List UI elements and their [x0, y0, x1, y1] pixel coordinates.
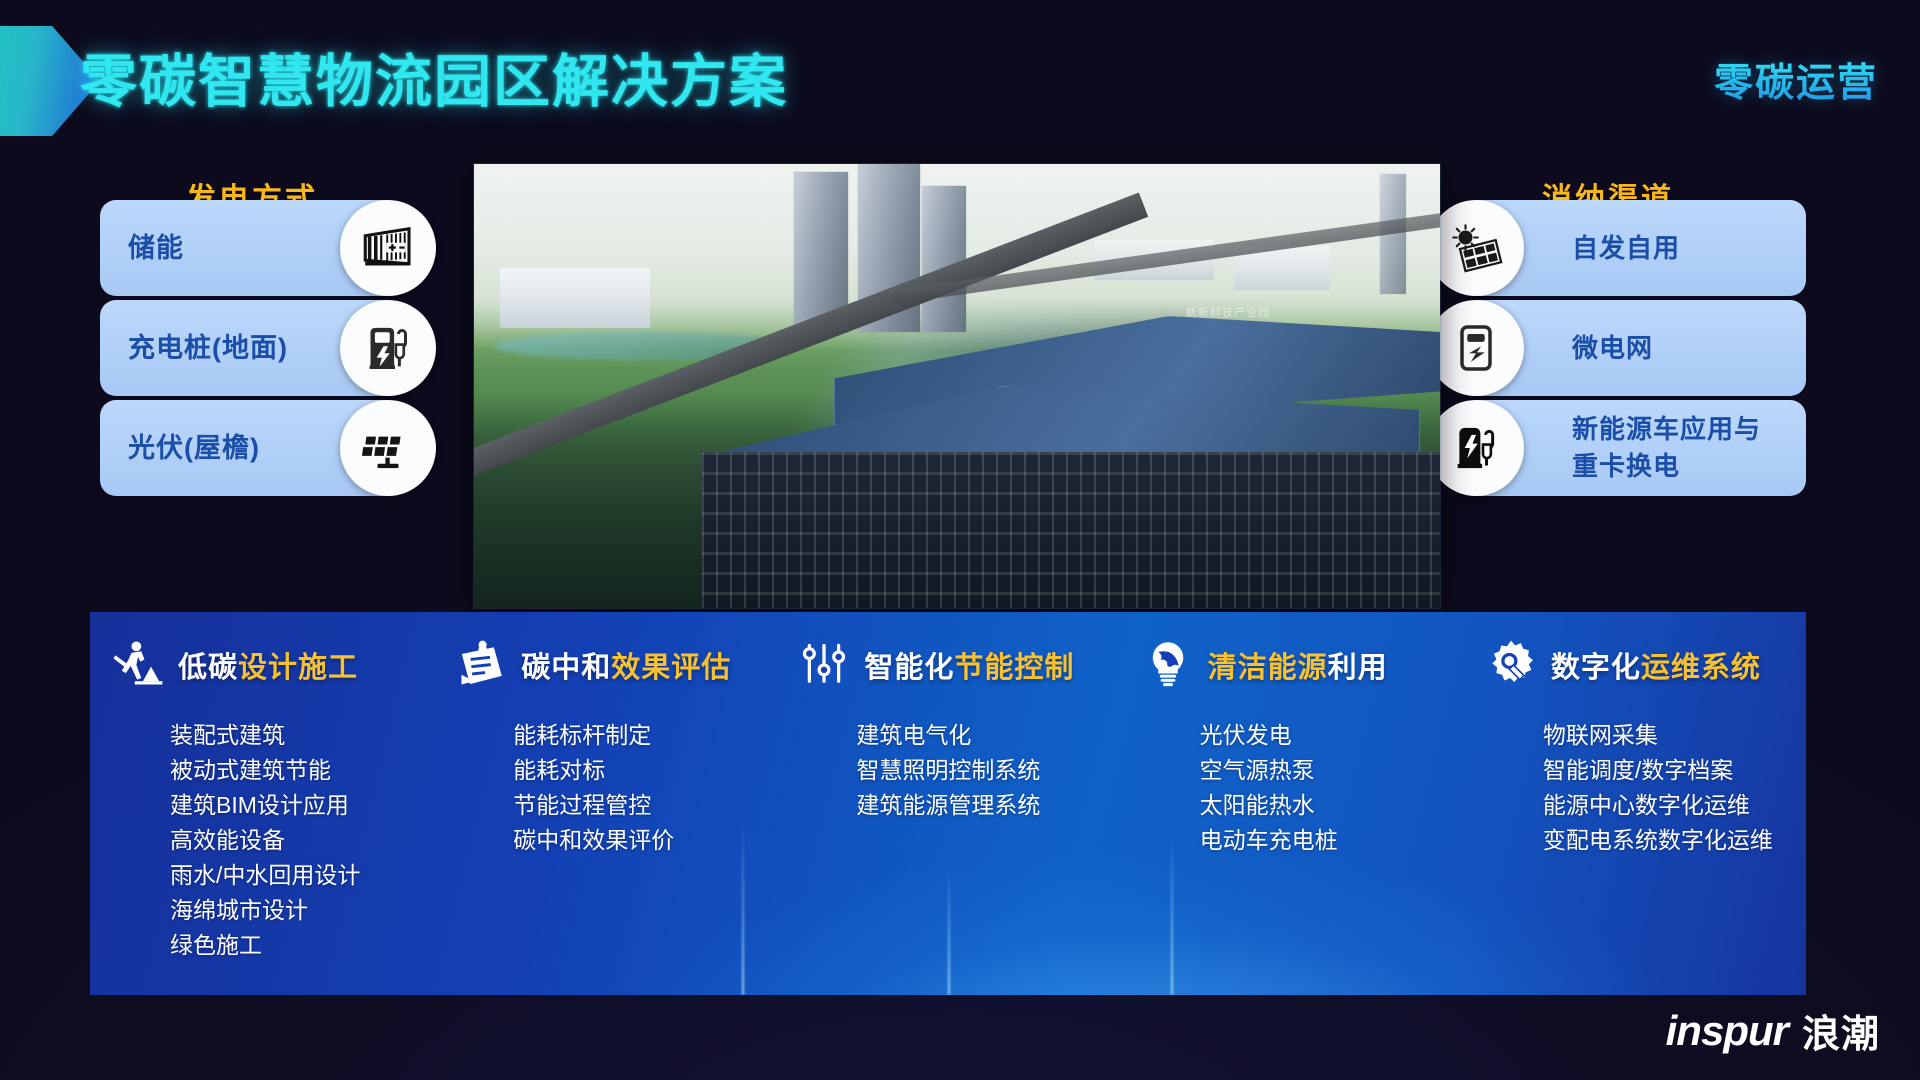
list-item: 雨水/中水回用设计 — [170, 858, 427, 893]
card-microgrid[interactable]: 微电网 — [1464, 300, 1806, 396]
list-item: 变配电系统数字化运维 — [1543, 823, 1800, 858]
gear-wrench-icon — [1485, 639, 1537, 691]
page-title: 零碳智慧物流园区解决方案 — [80, 36, 788, 118]
ev-charging-pile-icon — [1428, 400, 1524, 496]
image-building-block — [500, 268, 650, 328]
panel-column-digital-operations: 数字化运维系统 物联网采集 智能调度/数字档案 能源中心数字化运维 变配电系统数… — [1463, 634, 1806, 995]
header-right-label: 零碳运营 — [1714, 52, 1878, 108]
image-building-facade — [702, 452, 1440, 608]
list-item: 被动式建筑节能 — [170, 753, 427, 788]
charging-station-icon — [340, 300, 436, 396]
card-charging-pile-ground[interactable]: 充电桩(地面) — [100, 300, 400, 396]
panel-column-carbon-neutral-assessment: 碳中和效果评估 能耗标杆制定 能耗对标 节能过程管控 碳中和效果评价 — [433, 634, 776, 995]
list-item: 能耗对标 — [513, 753, 770, 788]
solar-panel-icon — [340, 400, 436, 496]
slide-root: 零碳智慧物流园区解决方案 零碳运营 发电方式 储能 — [0, 0, 1920, 1080]
list-item: 物联网采集 — [1543, 718, 1800, 753]
construction-worker-icon — [112, 639, 164, 691]
list-item: 智慧照明控制系统 — [856, 753, 1113, 788]
card-photovoltaic-eave[interactable]: 光伏(屋檐) — [100, 400, 400, 496]
list-item: 光伏发电 — [1200, 718, 1457, 753]
card-label: 自发自用 — [1572, 230, 1680, 267]
panel-column-intelligent-energy-control: 智能化节能控制 建筑电气化 智慧照明控制系统 建筑能源管理系统 — [776, 634, 1119, 995]
logo-chinese-name: 浪潮 — [1802, 1003, 1880, 1058]
clipboard-report-icon — [455, 639, 507, 691]
panel-item-list: 光伏发电 空气源热泵 太阳能热水 电动车充电桩 — [1134, 718, 1457, 858]
microgrid-battery-icon — [1428, 300, 1524, 396]
slider-control-icon — [798, 639, 850, 691]
logo-wordmark: inspur — [1666, 1007, 1788, 1055]
panel-item-list: 装配式建筑 被动式建筑节能 建筑BIM设计应用 高效能设备 雨水/中水回用设计 … — [104, 718, 427, 963]
panel-item-list: 建筑电气化 智慧照明控制系统 建筑能源管理系统 — [790, 718, 1113, 823]
sun-solar-panel-icon — [1428, 200, 1524, 296]
list-item: 空气源热泵 — [1200, 753, 1457, 788]
card-label: 光伏(屋檐) — [128, 429, 260, 467]
image-tower — [922, 186, 966, 332]
panel-column-low-carbon-design: 低碳设计施工 装配式建筑 被动式建筑节能 建筑BIM设计应用 高效能设备 雨水/… — [90, 634, 433, 995]
card-label: 充电桩(地面) — [128, 329, 288, 367]
list-item: 建筑电气化 — [856, 718, 1113, 753]
panel-column-title: 数字化运维系统 — [1551, 644, 1761, 686]
list-item: 建筑能源管理系统 — [856, 788, 1113, 823]
panel-item-list: 能耗标杆制定 能耗对标 节能过程管控 碳中和效果评价 — [447, 718, 770, 858]
card-label: 新能源车应用与重卡换电 — [1572, 411, 1782, 485]
logistics-park-rendering-image: 新新科技产业园 — [474, 164, 1440, 608]
list-item: 能源中心数字化运维 — [1543, 788, 1800, 823]
panel-column-title: 智能化节能控制 — [864, 644, 1074, 686]
lightbulb-globe-icon — [1142, 639, 1194, 691]
list-item: 节能过程管控 — [513, 788, 770, 823]
panel-item-list: 物联网采集 智能调度/数字档案 能源中心数字化运维 变配电系统数字化运维 — [1477, 718, 1800, 858]
battery-storage-container-icon — [340, 200, 436, 296]
list-item: 电动车充电桩 — [1200, 823, 1457, 858]
list-item: 太阳能热水 — [1200, 788, 1457, 823]
card-label: 微电网 — [1572, 330, 1653, 367]
panel-column-title: 碳中和效果评估 — [521, 644, 731, 686]
inspur-logo: inspur 浪潮 — [1666, 1003, 1880, 1058]
card-new-energy-vehicle[interactable]: 新能源车应用与重卡换电 — [1464, 400, 1806, 496]
panel-column-title: 低碳设计施工 — [178, 644, 358, 686]
list-item: 高效能设备 — [170, 823, 427, 858]
panel-column-clean-energy-use: 清洁能源利用 光伏发电 空气源热泵 太阳能热水 电动车充电桩 — [1120, 634, 1463, 995]
list-item: 智能调度/数字档案 — [1543, 753, 1800, 788]
panel-column-title: 清洁能源利用 — [1208, 644, 1388, 686]
card-self-generation-self-use[interactable]: 自发自用 — [1464, 200, 1806, 296]
capability-panel: 低碳设计施工 装配式建筑 被动式建筑节能 建筑BIM设计应用 高效能设备 雨水/… — [90, 612, 1806, 995]
list-item: 绿色施工 — [170, 928, 427, 963]
card-energy-storage[interactable]: 储能 — [100, 200, 400, 296]
list-item: 建筑BIM设计应用 — [170, 788, 427, 823]
list-item: 装配式建筑 — [170, 718, 427, 753]
list-item: 能耗标杆制定 — [513, 718, 770, 753]
list-item: 碳中和效果评价 — [513, 823, 770, 858]
card-label: 储能 — [128, 229, 184, 267]
list-item: 海绵城市设计 — [170, 893, 427, 928]
image-watermark: 新新科技产业园 — [1186, 304, 1270, 320]
